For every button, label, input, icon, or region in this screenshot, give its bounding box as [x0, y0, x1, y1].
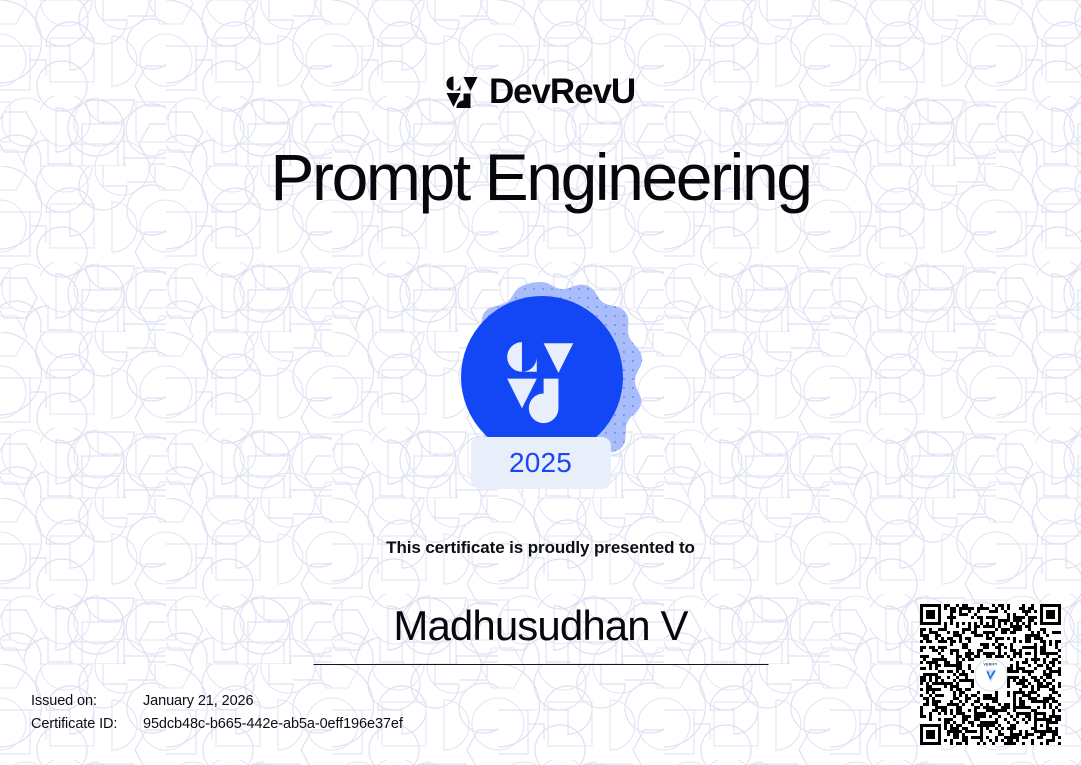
- qr-center-logo: VERIFY: [974, 658, 1007, 691]
- certificate-id-value: 95dcb48c-b665-442e-ab5a-0eff196e37ef: [143, 717, 403, 732]
- certificate-meta: Issued on: January 21, 2026 Certificate …: [31, 694, 403, 740]
- issued-on-value: January 21, 2026: [143, 694, 253, 709]
- verified-check-icon: [982, 667, 999, 684]
- certificate-id-row: Certificate ID: 95dcb48c-b665-442e-ab5a-…: [31, 717, 403, 740]
- qr-center-logo-caption: VERIFY: [975, 662, 1006, 666]
- certificate-page: DevRevU Prompt Engineering: [0, 0, 1081, 765]
- achievement-badge: 2025: [433, 278, 649, 490]
- recipient-underline: [313, 664, 768, 665]
- brand-lockup: DevRevU: [0, 74, 1081, 109]
- certificate-content: DevRevU Prompt Engineering: [0, 0, 1081, 765]
- course-title: Prompt Engineering: [0, 142, 1081, 213]
- issued-on-label: Issued on:: [31, 694, 143, 709]
- recipient-name: Madhusudhan V: [0, 602, 1081, 650]
- brand-name: DevRevU: [489, 74, 635, 109]
- verification-qr-code[interactable]: VERIFY: [920, 604, 1061, 745]
- certificate-id-label: Certificate ID:: [31, 717, 143, 732]
- devrev-logo-icon: [446, 76, 478, 108]
- issued-on-row: Issued on: January 21, 2026: [31, 694, 403, 717]
- badge-year: 2025: [471, 437, 611, 489]
- presented-to-label: This certificate is proudly presented to: [0, 538, 1081, 558]
